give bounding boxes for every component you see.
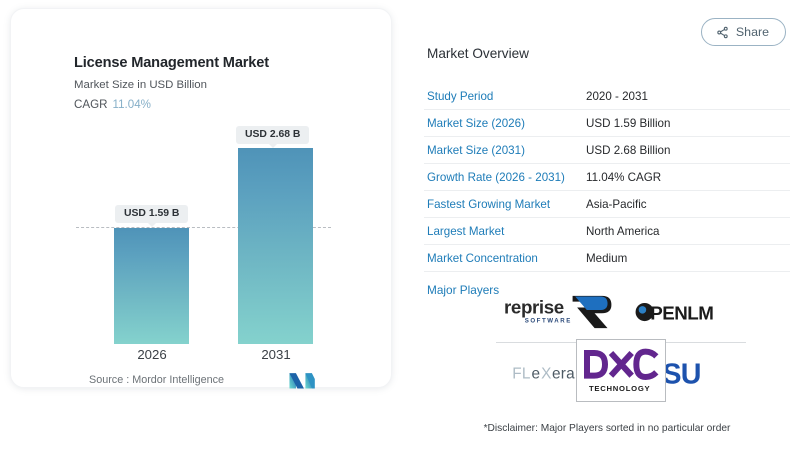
x-axis-tick-2026: 2026 (114, 347, 190, 362)
svg-text:X: X (541, 365, 552, 382)
table-row: Market Size (2031) USD 2.68 Billion (424, 137, 790, 164)
bar-value-label-2031: USD 2.68 B (236, 126, 309, 144)
row-label: Market Size (2031) (424, 144, 586, 157)
bar-2026 (114, 228, 189, 344)
market-overview-title: Market Overview (427, 46, 529, 61)
openlm-logo: PENLM (621, 281, 746, 342)
reprise-software-logo-mark: reprise SOFTWARE (504, 291, 614, 333)
row-label: Market Size (2026) (424, 117, 586, 130)
row-label: Largest Market (424, 225, 586, 238)
bar-2031 (238, 148, 313, 344)
bar-chart-plot: USD 1.59 B USD 2.68 B 2026 2031 (11, 9, 393, 389)
reprise-software-logo: reprise SOFTWARE (496, 281, 621, 342)
openlm-logo-mark: PENLM (634, 298, 734, 326)
x-axis-tick-2031: 2031 (238, 347, 314, 362)
chart-card: License Management Market Market Size in… (10, 8, 392, 388)
row-label: Fastest Growing Market (424, 198, 586, 211)
table-row: Market Concentration Medium (424, 245, 790, 272)
row-value: 2020 - 2031 (586, 90, 790, 103)
table-row: Growth Rate (2026 - 2031) 11.04% CAGR (424, 164, 790, 191)
row-value: Medium (586, 252, 790, 265)
row-value: North America (586, 225, 790, 238)
players-disclaimer: *Disclaimer: Major Players sorted in no … (424, 423, 790, 434)
row-value: Asia-Pacific (586, 198, 790, 211)
major-players-logo-grid: reprise SOFTWARE PENLM FL e X era (496, 281, 746, 403)
row-label: Growth Rate (2026 - 2031) (424, 171, 586, 184)
share-icon (716, 26, 729, 39)
market-overview-table: Study Period 2020 - 2031 Market Size (20… (424, 83, 790, 272)
table-row: Study Period 2020 - 2031 (424, 83, 790, 110)
table-row: Largest Market North America (424, 218, 790, 245)
major-players-title: Major Players (427, 283, 499, 297)
table-row: Fastest Growing Market Asia-Pacific (424, 191, 790, 218)
row-label: Market Concentration (424, 252, 586, 265)
svg-text:e: e (531, 365, 540, 382)
svg-text:PENLM: PENLM (650, 302, 713, 323)
table-row: Market Size (2026) USD 1.59 Billion (424, 110, 790, 137)
chart-source: Source : Mordor Intelligence (89, 374, 224, 386)
row-value: USD 1.59 Billion (586, 117, 790, 130)
share-button-label: Share (736, 25, 769, 39)
row-value: USD 2.68 Billion (586, 144, 790, 157)
report-snapshot: License Management Market Market Size in… (0, 0, 800, 459)
dxc-technology-logo: TECHNOLOGY (576, 339, 666, 402)
svg-text:FL: FL (512, 365, 531, 382)
svg-text:SOFTWARE: SOFTWARE (524, 317, 571, 324)
svg-text:era: era (551, 365, 574, 382)
dxc-technology-logo-mark: TECHNOLOGY (581, 347, 661, 395)
svg-text:reprise: reprise (504, 296, 564, 317)
share-button[interactable]: Share (701, 18, 786, 46)
row-label: Study Period (424, 90, 586, 103)
mordor-intelligence-logo (288, 371, 317, 390)
bar-value-label-2026: USD 1.59 B (115, 205, 188, 223)
svg-text:TECHNOLOGY: TECHNOLOGY (589, 384, 650, 393)
row-value: 11.04% CAGR (586, 171, 790, 184)
